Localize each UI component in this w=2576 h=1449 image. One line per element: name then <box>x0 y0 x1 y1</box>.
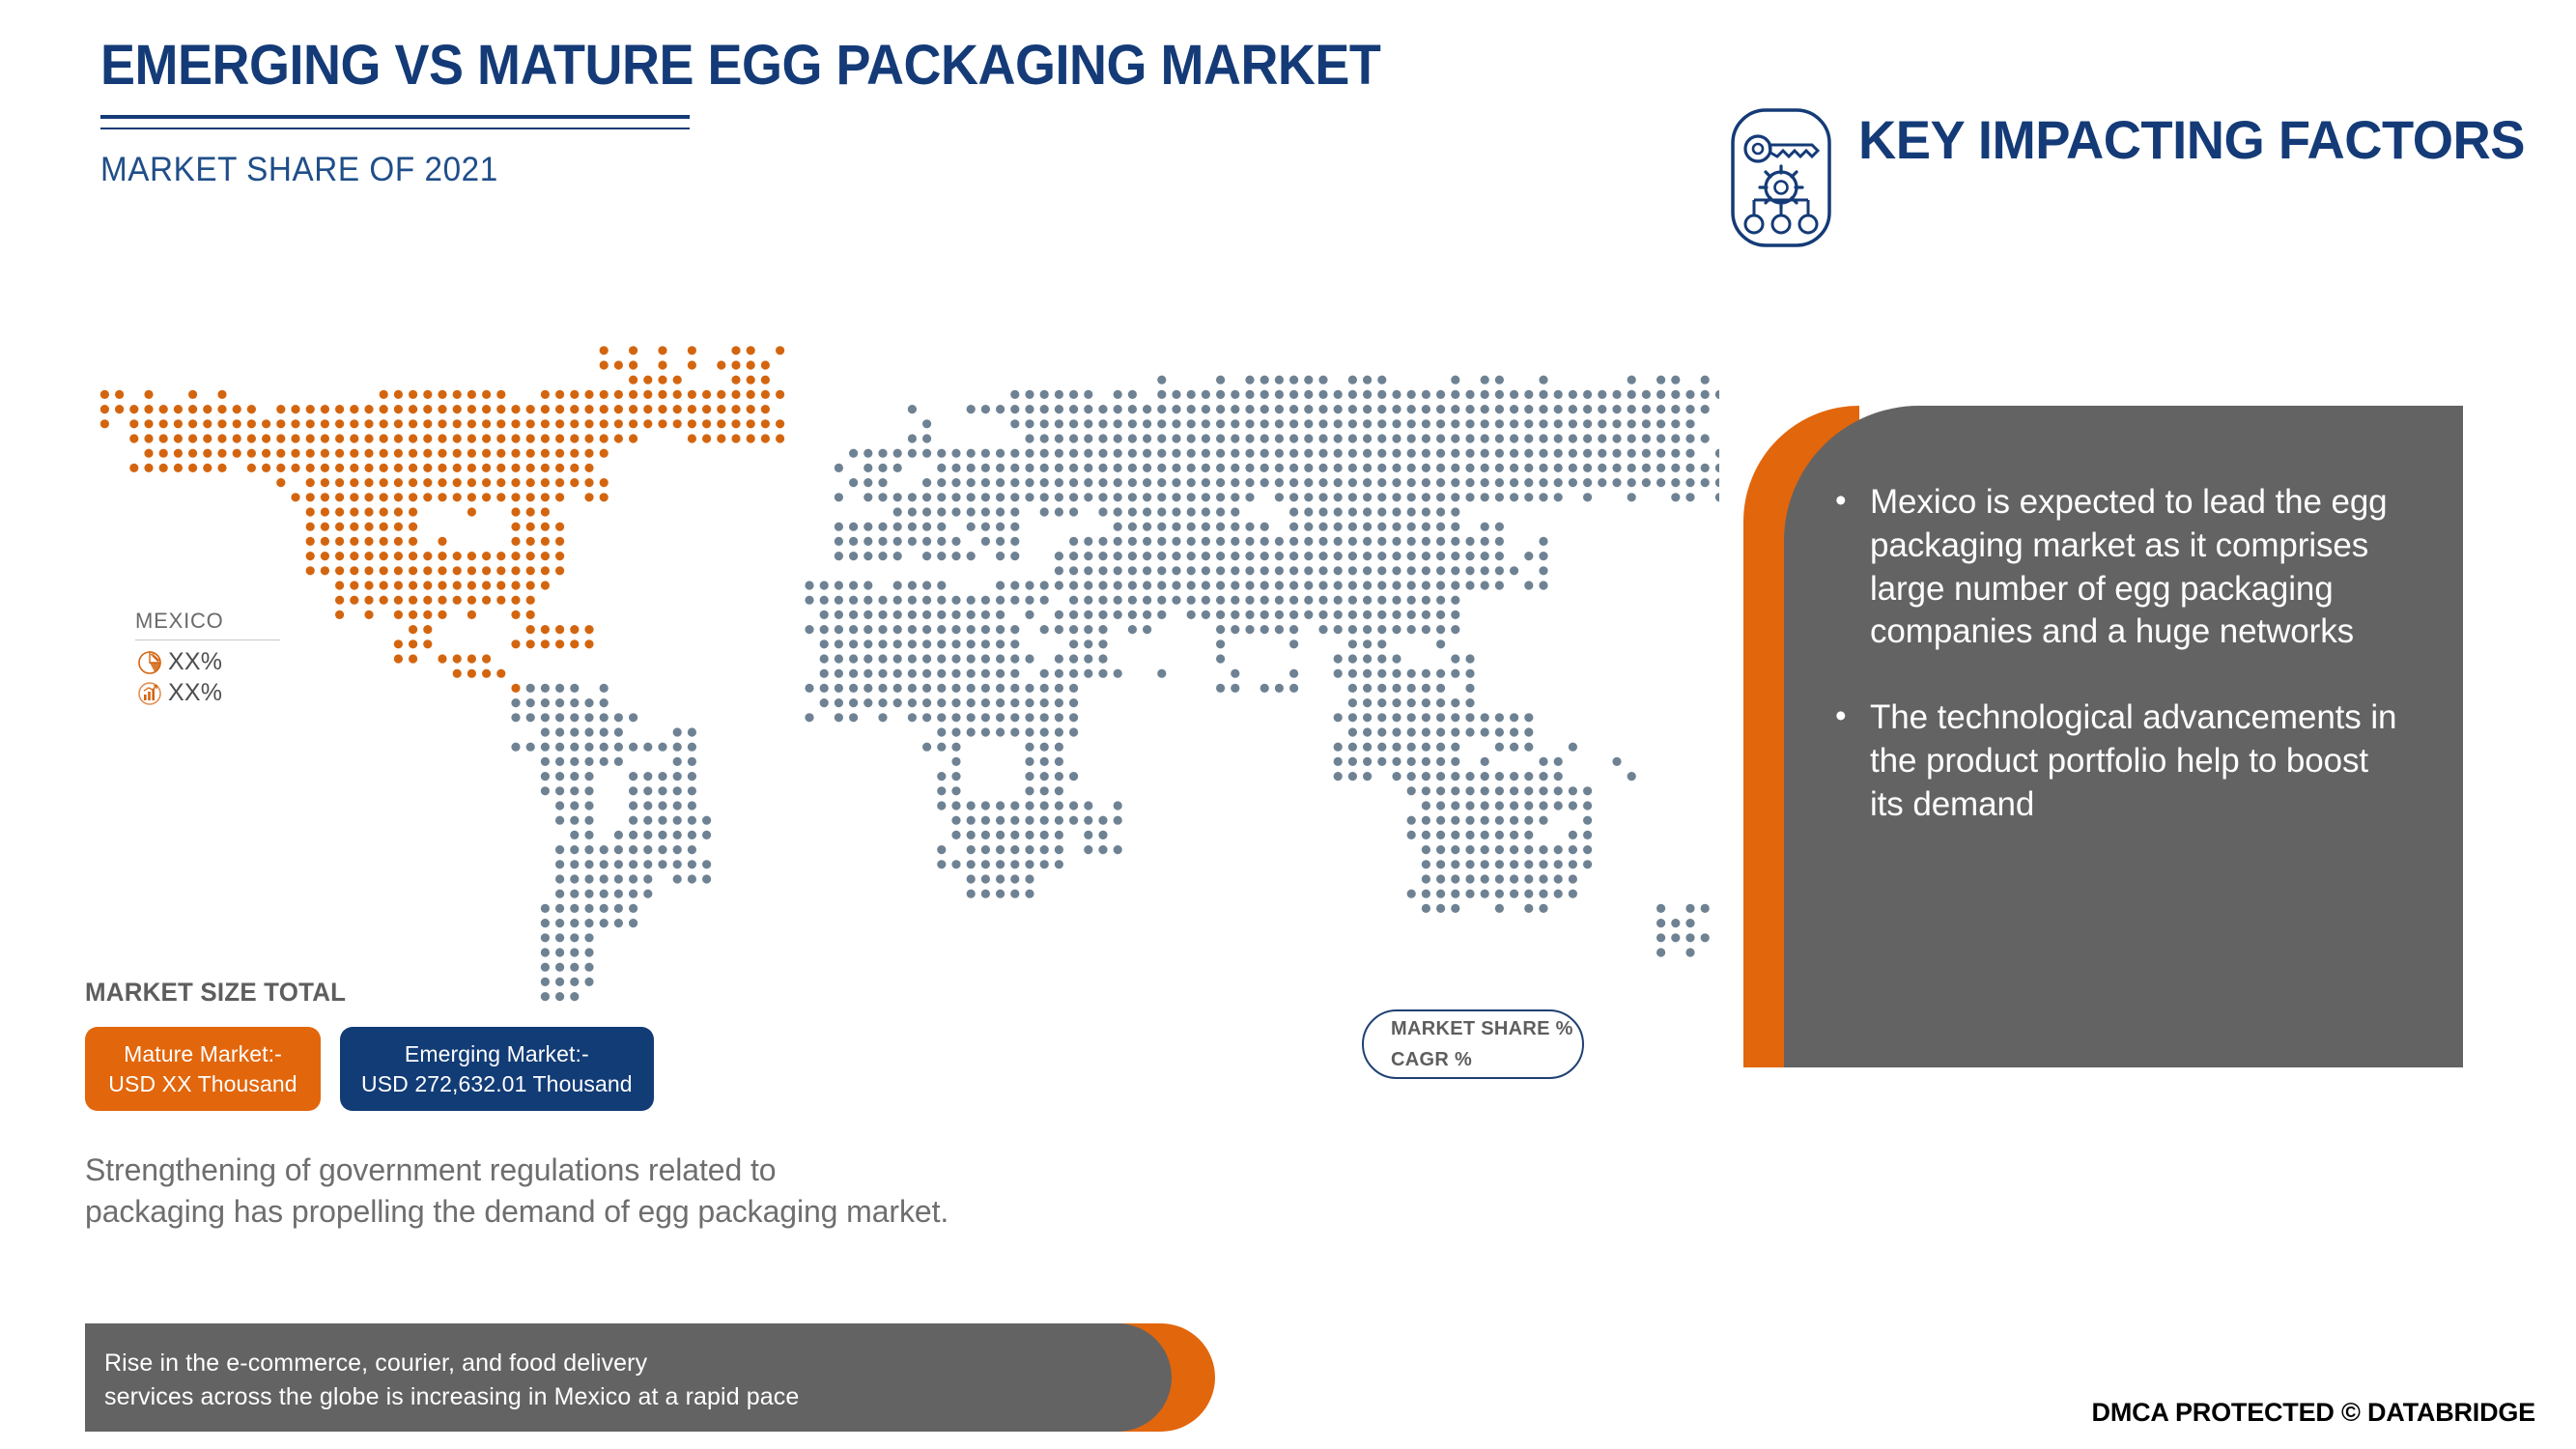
dmca-footer: DMCA PROTECTED © DATABRIDGE <box>2092 1398 2535 1428</box>
page-subtitle: MARKET SHARE OF 2021 <box>100 151 1431 189</box>
key-factors-title: KEY IMPACTING FACTORS <box>1858 106 2525 169</box>
cagr-value: XX% <box>168 679 222 707</box>
legend-cagr: CAGR % <box>1391 1049 1582 1071</box>
key-factors-panel: Mexico is expected to lead the egg packa… <box>1743 406 2463 1067</box>
mature-market-badge: Mature Market:- USD XX Thousand <box>85 1027 321 1111</box>
market-size-total: MARKET SIZE TOTAL Mature Market:- USD XX… <box>85 978 654 1111</box>
callout-metric-market-share: XX% <box>135 647 377 676</box>
key-factors-header: KEY IMPACTING FACTORS <box>1729 106 2545 249</box>
pie-chart-icon <box>135 647 164 676</box>
map-region-rest-of-world <box>511 376 1719 1002</box>
page-title: EMERGING VS MATURE EGG PACKAGING MARKET <box>100 37 1403 94</box>
emerging-market-badge: Emerging Market:- USD 272,632.01 Thousan… <box>340 1027 654 1111</box>
callout-metric-cagr: XX% <box>135 678 377 707</box>
market-share-value: XX% <box>168 648 222 676</box>
market-size-pills: Mature Market:- USD XX Thousand Emerging… <box>85 1027 654 1111</box>
market-size-title: MARKET SIZE TOTAL <box>85 978 631 1008</box>
description-text: Strengthening of government regulations … <box>85 1150 1437 1232</box>
bottom-banner: Rise in the e-commerce, courier, and foo… <box>85 1323 1215 1432</box>
mexico-callout: MEXICO XX% XX% <box>135 609 377 707</box>
title-divider <box>100 115 690 129</box>
map-legend: MARKET SHARE % CAGR % <box>1362 1009 1584 1079</box>
bar-growth-icon <box>135 678 164 707</box>
legend-market-share: MARKET SHARE % <box>1391 1018 1582 1040</box>
list-item: The technological advancements in the pr… <box>1835 696 2405 826</box>
callout-country-label: MEXICO <box>135 609 377 634</box>
title-block: EMERGING VS MATURE EGG PACKAGING MARKET … <box>100 37 1501 189</box>
key-factors-list: Mexico is expected to lead the egg packa… <box>1835 481 2405 869</box>
banner-text: Rise in the e-commerce, courier, and foo… <box>104 1347 1118 1413</box>
list-item: Mexico is expected to lead the egg packa… <box>1835 481 2405 654</box>
callout-rule <box>135 639 280 640</box>
key-gear-network-icon <box>1729 106 1833 249</box>
